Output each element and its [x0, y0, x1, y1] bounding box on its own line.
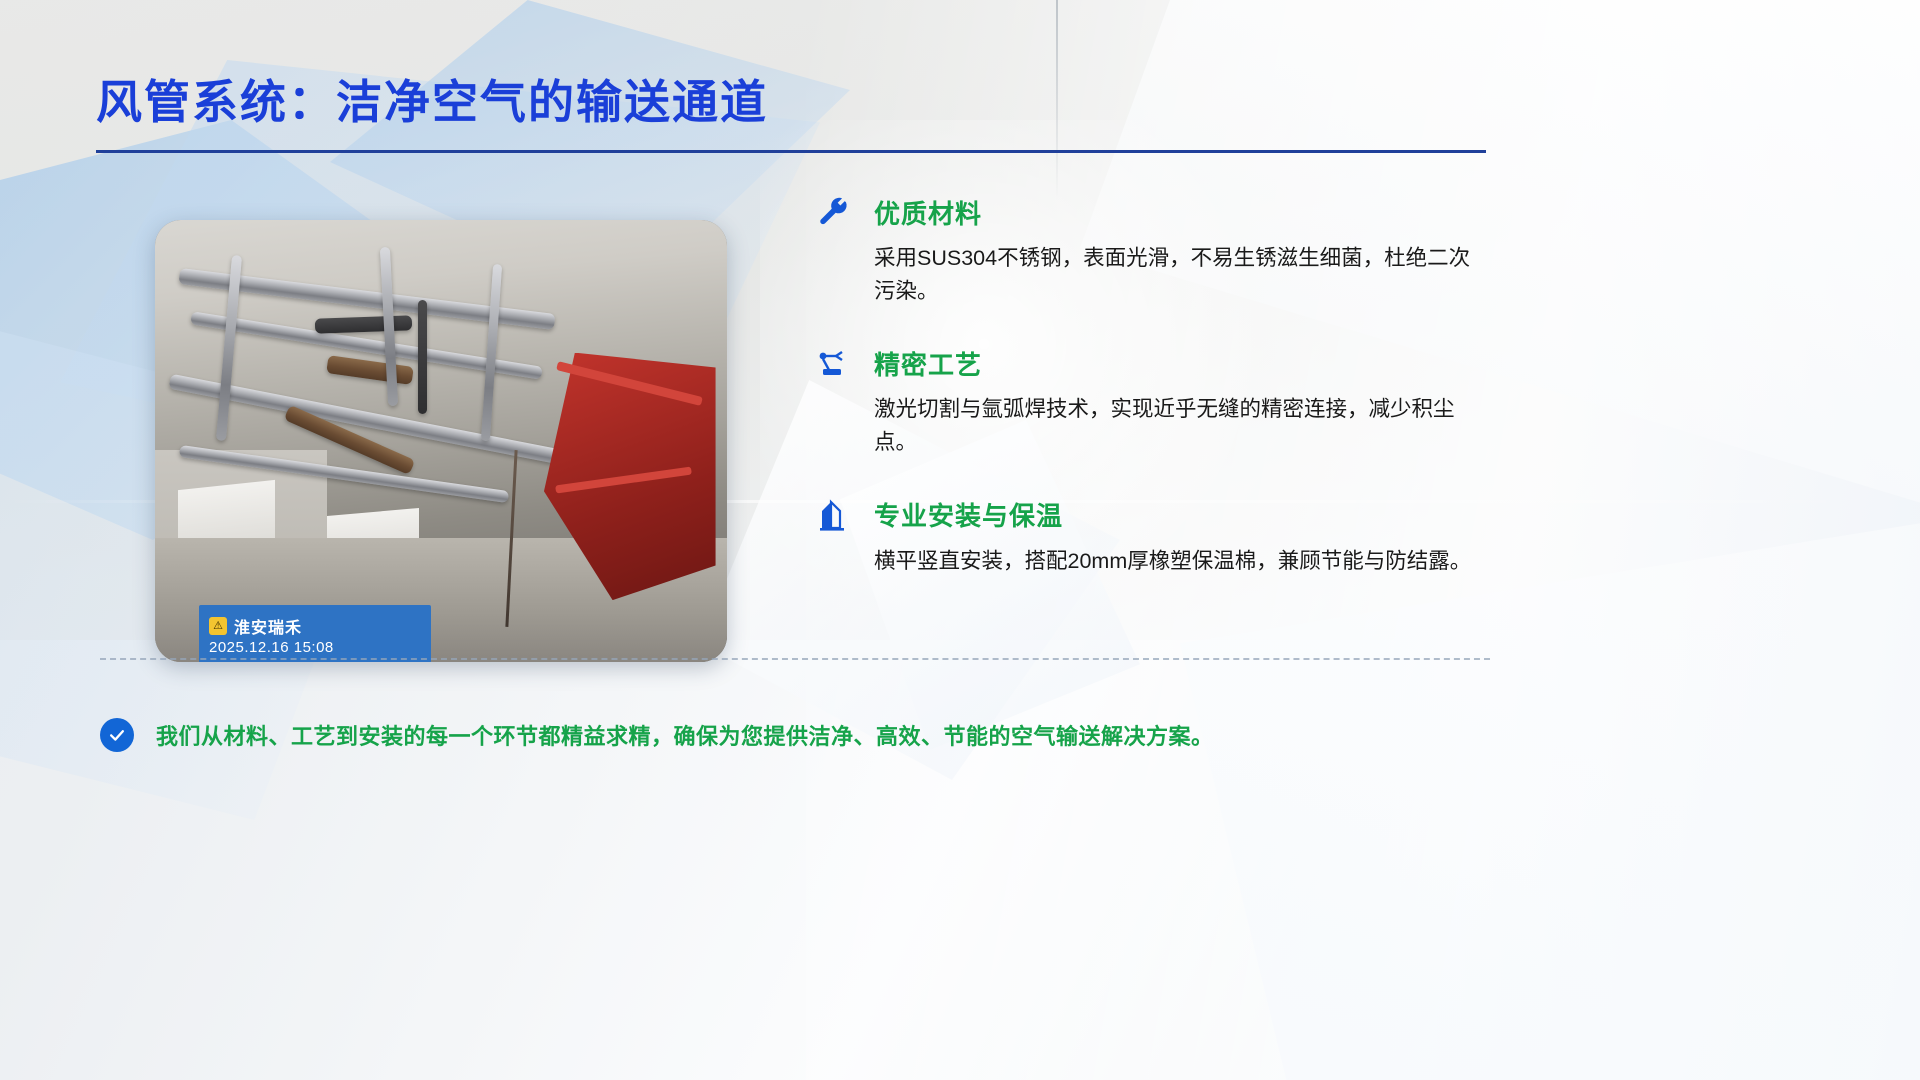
page-title: 风管系统：洁净空气的输送通道: [96, 66, 768, 132]
feature-title: 专业安装与保温: [874, 496, 1063, 533]
title-underline: [96, 150, 1486, 153]
watermark-name: 淮安瑞禾: [234, 614, 302, 638]
check-circle-icon: [100, 718, 134, 752]
section-divider: [100, 658, 1490, 660]
warning-badge-icon: ⚠: [209, 617, 227, 635]
feature-body: 采用SUS304不锈钢，表面光滑，不易生锈滋生细菌，杜绝二次污染。: [874, 242, 1474, 307]
wrench-icon: [812, 192, 856, 232]
feature-item-installation: 专业安装与保温 横平竖直安装，搭配20mm厚橡塑保温棉，兼顾节能与防结露。: [812, 495, 1492, 578]
building-icon: [812, 495, 856, 535]
feature-list: 优质材料 采用SUS304不锈钢，表面光滑，不易生锈滋生细菌，杜绝二次污染。 精…: [812, 192, 1492, 613]
feature-title: 优质材料: [874, 194, 982, 231]
feature-title: 精密工艺: [874, 345, 982, 382]
decor-thin-line: [1056, 0, 1058, 200]
feature-body: 横平竖直安装，搭配20mm厚橡塑保温棉，兼顾节能与防结露。: [874, 545, 1474, 578]
watermark-timestamp: 2025.12.16 15:08: [199, 639, 431, 656]
photo-riser-4: [418, 300, 427, 415]
feature-item-materials: 优质材料 采用SUS304不锈钢，表面光滑，不易生锈滋生细菌，杜绝二次污染。: [812, 192, 1492, 307]
laser-welding-arm-icon: [812, 343, 856, 383]
project-photo: ⚠ 淮安瑞禾 2025.12.16 15:08: [155, 220, 727, 662]
feature-body: 激光切割与氩弧焊技术，实现近乎无缝的精密连接，减少积尘点。: [874, 393, 1474, 458]
summary-bar: 我们从材料、工艺到安装的每一个环节都精益求精，确保为您提供洁净、高效、节能的空气…: [100, 705, 1500, 765]
summary-text: 我们从材料、工艺到安装的每一个环节都精益求精，确保为您提供洁净、高效、节能的空气…: [156, 719, 1214, 751]
feature-item-craft: 精密工艺 激光切割与氩弧焊技术，实现近乎无缝的精密连接，减少积尘点。: [812, 343, 1492, 458]
photo-watermark: ⚠ 淮安瑞禾 2025.12.16 15:08: [199, 605, 431, 662]
slide-root: 风管系统：洁净空气的输送通道 ⚠ 淮安瑞禾 2025.12.16 15:08: [0, 0, 1920, 1080]
